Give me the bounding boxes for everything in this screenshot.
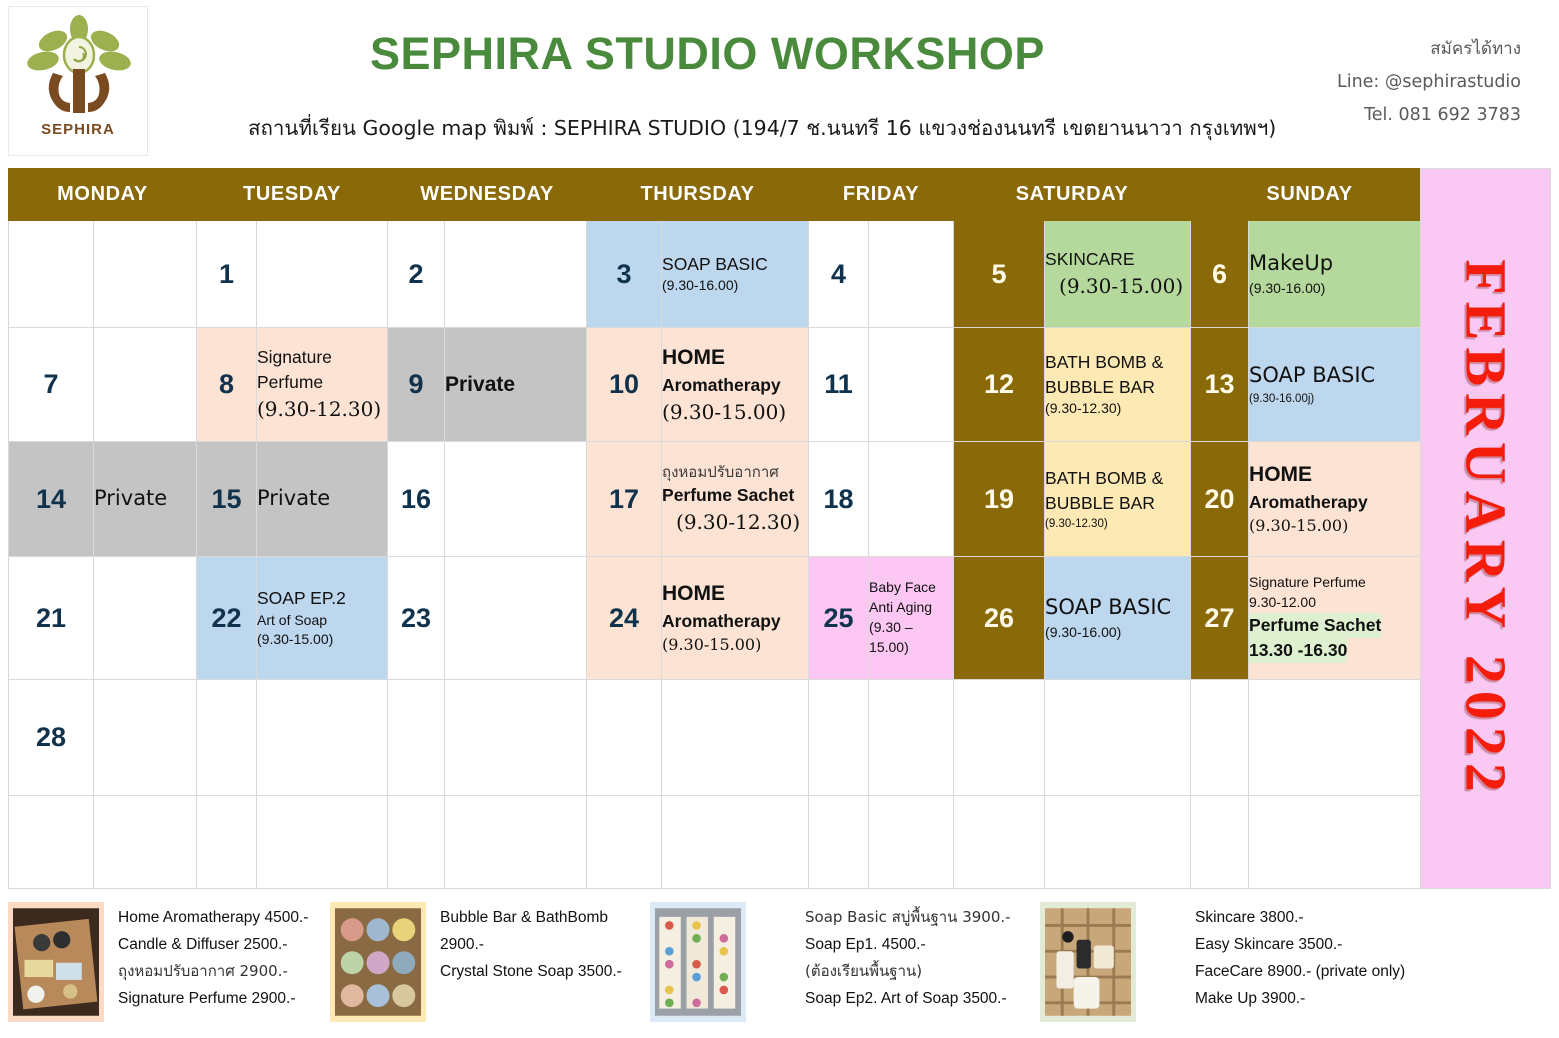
calendar-week-row	[9, 796, 1429, 889]
day-number-4[interactable]: 4	[809, 221, 869, 328]
day-number-empty	[388, 680, 445, 796]
price-line: Crystal Stone Soap 3500.-	[440, 958, 622, 985]
weekday-header-thursday: THURSDAY	[587, 169, 809, 221]
day-number-empty	[954, 796, 1045, 889]
event-text: (9.30 – 15.00)	[869, 618, 953, 658]
day-number-empty	[1191, 796, 1249, 889]
day-number-empty	[197, 796, 257, 889]
event-text: (9.30-15.00)	[257, 630, 387, 650]
price-lines-soap: Soap Basic สบู่พื้นฐาน 3900.-Soap Ep1. 4…	[805, 904, 1011, 1012]
day-number-19[interactable]: 19	[954, 442, 1045, 557]
price-lines-aromatherapy: Home Aromatherapy 4500.-Candle & Diffuse…	[118, 904, 308, 1012]
weekday-header-wednesday: WEDNESDAY	[388, 169, 587, 221]
event-text: BUBBLE BAR	[1045, 375, 1190, 400]
day-events-empty	[1045, 796, 1191, 889]
location-subtitle: สถานที่เรียน Google map พิมพ์ : SEPHIRA …	[248, 112, 1308, 145]
weekday-header-monday: MONDAY	[9, 169, 197, 221]
day-events-28	[94, 680, 197, 796]
event-text: SOAP BASIC	[662, 252, 808, 277]
price-line: Signature Perfume 2900.-	[118, 985, 308, 1012]
soap-thumbnail-icon	[655, 907, 741, 1017]
day-events-11	[869, 328, 954, 442]
skincare-thumbnail-icon	[1045, 907, 1131, 1017]
day-number-12[interactable]: 12	[954, 328, 1045, 442]
day-number-empty	[388, 796, 445, 889]
weekday-header-tuesday: TUESDAY	[197, 169, 388, 221]
aromatherapy-thumbnail-icon	[13, 907, 99, 1017]
day-number-empty	[197, 680, 257, 796]
day-events-20[interactable]: HOMEAromatherapy(9.30-15.00)	[1249, 442, 1429, 557]
day-events-empty	[1249, 680, 1429, 796]
calendar-week-row: 14Private15Private1617ถุงหอมปรับอากาศPer…	[9, 442, 1429, 557]
event-text: (9.30-16.00)	[662, 276, 808, 296]
calendar-week-row: 123SOAP BASIC(9.30-16.00)45SKINCARE(9.30…	[9, 221, 1429, 328]
price-line: FaceCare 8900.- (private only)	[1195, 958, 1405, 985]
day-number-10[interactable]: 10	[587, 328, 662, 442]
event-text: Private	[94, 484, 196, 514]
price-thumb-aromatherapy	[8, 902, 104, 1022]
event-text: ถุงหอมปรับอากาศ	[662, 462, 808, 483]
day-number-20[interactable]: 20	[1191, 442, 1249, 557]
price-line: Candle & Diffuser 2500.-	[118, 931, 308, 958]
price-line: Home Aromatherapy 4500.-	[118, 904, 308, 931]
price-line: 2900.-	[440, 931, 622, 958]
day-number-15[interactable]: 15	[197, 442, 257, 557]
day-number-empty	[587, 680, 662, 796]
event-text: MakeUp	[1249, 249, 1428, 279]
day-events-4	[869, 221, 954, 328]
day-number-8[interactable]: 8	[197, 328, 257, 442]
day-events-6[interactable]: MakeUp(9.30-16.00)	[1249, 221, 1429, 328]
day-events-empty	[94, 221, 197, 328]
day-number-16[interactable]: 16	[388, 442, 445, 557]
calendar-week-row: 78SignaturePerfume(9.30-12.30)9Private10…	[9, 328, 1429, 442]
calendar-poster: SEPHIRA SEPHIRA STUDIO WORKSHOP สถานที่เ…	[0, 0, 1559, 1038]
event-text: Aromatherapy	[1249, 490, 1428, 515]
event-text: (9.30-16.00)	[1249, 279, 1428, 299]
event-text: BATH BOMB &	[1045, 466, 1190, 491]
day-number-24[interactable]: 24	[587, 557, 662, 680]
weekday-header-friday: FRIDAY	[809, 169, 954, 221]
day-events-5[interactable]: SKINCARE(9.30-15.00)	[1045, 221, 1191, 328]
event-text: (9.30-12.30)	[257, 395, 387, 423]
event-text: SOAP BASIC	[1249, 361, 1428, 391]
day-events-empty	[662, 796, 809, 889]
price-line: Make Up 3900.-	[1195, 985, 1405, 1012]
day-events-empty	[869, 680, 954, 796]
day-events-1	[257, 221, 388, 328]
day-events-empty	[94, 796, 197, 889]
event-text: HOME	[662, 343, 808, 373]
price-line: (ต้องเรียนพื้นฐาน)	[805, 958, 1011, 985]
price-lines-bathbomb: Bubble Bar & BathBomb2900.-Crystal Stone…	[440, 904, 622, 985]
day-events-18	[869, 442, 954, 557]
event-text: Private	[257, 484, 387, 514]
event-text: SOAP EP.2	[257, 586, 387, 611]
sephira-logo: SEPHIRA	[8, 6, 148, 156]
contact-line-id: Line: @sephirastudio	[1337, 66, 1521, 99]
event-text: (9.30-16.00)	[1045, 623, 1190, 643]
day-number-23[interactable]: 23	[388, 557, 445, 680]
day-events-26[interactable]: SOAP BASIC(9.30-16.00)	[1045, 557, 1191, 680]
price-list-footer: Home Aromatherapy 4500.-Candle & Diffuse…	[0, 898, 1559, 1038]
day-events-empty	[257, 680, 388, 796]
day-events-23	[445, 557, 587, 680]
price-line: Easy Skincare 3500.-	[1195, 931, 1405, 958]
day-number-empty	[809, 796, 869, 889]
day-number-empty	[809, 680, 869, 796]
day-number-6[interactable]: 6	[1191, 221, 1249, 328]
page-title: SEPHIRA STUDIO WORKSHOP	[370, 28, 1270, 80]
price-thumb-soap	[650, 902, 746, 1022]
day-number-11[interactable]: 11	[809, 328, 869, 442]
price-line: ถุงหอมปรับอากาศ 2900.-	[118, 958, 308, 985]
day-number-1[interactable]: 1	[197, 221, 257, 328]
event-text: Art of Soap	[257, 611, 387, 631]
event-text: Signature	[257, 345, 387, 370]
tree-hands-logo-icon	[9, 7, 149, 127]
day-number-7[interactable]: 7	[9, 328, 94, 442]
event-text: HOME	[662, 579, 808, 609]
event-text: (9.30-16.00j)	[1249, 391, 1428, 407]
day-events-15[interactable]: Private	[257, 442, 388, 557]
calendar-week-row: 2122SOAP EP.2Art of Soap(9.30-15.00)2324…	[9, 557, 1429, 680]
event-text: Perfume Sachet	[1249, 613, 1381, 638]
monthly-calendar: MONDAY TUESDAY WEDNESDAY THURSDAY FRIDAY…	[8, 168, 1429, 889]
day-events-19[interactable]: BATH BOMB &BUBBLE BAR(9.30-12.30)	[1045, 442, 1191, 557]
event-text: (9.30-15.00)	[1045, 272, 1190, 300]
price-group-soap: Soap Basic สบู่พื้นฐาน 3900.-Soap Ep1. 4…	[650, 898, 1025, 1030]
day-events-27[interactable]: Signature Perfume9.30-12.00Perfume Sache…	[1249, 557, 1429, 680]
event-text: (9.30-12.30)	[1045, 516, 1190, 532]
price-thumb-skincare	[1040, 902, 1136, 1022]
weekday-header-saturday: SATURDAY	[954, 169, 1191, 221]
calendar-week-row: 28	[9, 680, 1429, 796]
event-text: Aromatherapy	[662, 609, 808, 634]
day-events-10[interactable]: HOMEAromatherapy(9.30-15.00)	[662, 328, 809, 442]
event-text: 13.30 -16.30	[1249, 638, 1347, 663]
day-number-17[interactable]: 17	[587, 442, 662, 557]
event-text: Anti Aging	[869, 598, 953, 618]
day-events-17[interactable]: ถุงหอมปรับอากาศPerfume Sachet(9.30-12.30…	[662, 442, 809, 557]
day-events-2	[445, 221, 587, 328]
price-line: Soap Ep1. 4500.-	[805, 931, 1011, 958]
day-events-empty	[1045, 680, 1191, 796]
event-text: SOAP BASIC	[1045, 593, 1190, 623]
month-sidebar: FEBRUARY 2022	[1420, 168, 1551, 889]
day-events-14[interactable]: Private	[94, 442, 197, 557]
day-number-26[interactable]: 26	[954, 557, 1045, 680]
day-number-18[interactable]: 18	[809, 442, 869, 557]
price-group-aromatherapy: Home Aromatherapy 4500.-Candle & Diffuse…	[8, 898, 328, 1030]
event-text: 9.30-12.00	[1249, 593, 1428, 613]
day-events-22[interactable]: SOAP EP.2Art of Soap(9.30-15.00)	[257, 557, 388, 680]
day-events-8[interactable]: SignaturePerfume(9.30-12.30)	[257, 328, 388, 442]
day-events-empty	[445, 680, 587, 796]
poster-header: SEPHIRA SEPHIRA STUDIO WORKSHOP สถานที่เ…	[0, 0, 1559, 160]
day-events-3[interactable]: SOAP BASIC(9.30-16.00)	[662, 221, 809, 328]
price-line: Skincare 3800.-	[1195, 904, 1405, 931]
price-line: Soap Basic สบู่พื้นฐาน 3900.-	[805, 904, 1011, 931]
event-text: BATH BOMB &	[1045, 350, 1190, 375]
day-number-empty	[9, 796, 94, 889]
day-number-28[interactable]: 28	[9, 680, 94, 796]
day-events-9[interactable]: Private	[445, 328, 587, 442]
event-text: (9.30-12.30)	[662, 508, 808, 536]
event-text: Perfume	[257, 370, 387, 395]
day-number-3[interactable]: 3	[587, 221, 662, 328]
price-line: Soap Ep2. Art of Soap 3500.-	[805, 985, 1011, 1012]
event-text: Signature Perfume	[1249, 573, 1428, 593]
weekday-header-sunday: SUNDAY	[1191, 169, 1429, 221]
day-events-7	[94, 328, 197, 442]
day-number-21[interactable]: 21	[9, 557, 94, 680]
price-group-bathbomb: Bubble Bar & BathBomb2900.-Crystal Stone…	[330, 898, 640, 1030]
day-events-12[interactable]: BATH BOMB &BUBBLE BAR(9.30-12.30)	[1045, 328, 1191, 442]
day-events-25[interactable]: Baby FaceAnti Aging(9.30 – 15.00)	[869, 557, 954, 680]
contact-telephone: Tel. 081 692 3783	[1337, 99, 1521, 132]
day-events-empty	[1249, 796, 1429, 889]
event-text: SKINCARE	[1045, 247, 1190, 272]
day-events-21	[94, 557, 197, 680]
weekday-header-row: MONDAY TUESDAY WEDNESDAY THURSDAY FRIDAY…	[9, 169, 1429, 221]
event-text: (9.30-15.00)	[1249, 515, 1428, 538]
day-events-13[interactable]: SOAP BASIC(9.30-16.00j)	[1249, 328, 1429, 442]
contact-label: สมัครได้ทาง	[1337, 33, 1521, 66]
price-thumb-bathbomb	[330, 902, 426, 1022]
day-events-24[interactable]: HOMEAromatherapy(9.30-15.00)	[662, 557, 809, 680]
event-text: Baby Face	[869, 578, 953, 598]
month-label: FEBRUARY 2022	[1452, 259, 1519, 799]
event-text: BUBBLE BAR	[1045, 491, 1190, 516]
day-number-2[interactable]: 2	[388, 221, 445, 328]
day-number-empty	[1191, 680, 1249, 796]
calendar-body: 123SOAP BASIC(9.30-16.00)45SKINCARE(9.30…	[9, 221, 1429, 889]
day-number-22[interactable]: 22	[197, 557, 257, 680]
day-events-empty	[257, 796, 388, 889]
event-text: (9.30-12.30)	[1045, 399, 1190, 419]
price-group-skincare: Skincare 3800.-Easy Skincare 3500.-FaceC…	[1040, 898, 1400, 1030]
day-events-empty	[869, 796, 954, 889]
event-text: Perfume Sachet	[662, 483, 808, 508]
event-text: HOME	[1249, 460, 1428, 490]
day-events-empty	[662, 680, 809, 796]
price-lines-skincare: Skincare 3800.-Easy Skincare 3500.-FaceC…	[1195, 904, 1405, 1012]
day-events-empty	[445, 796, 587, 889]
day-number-5[interactable]: 5	[954, 221, 1045, 328]
event-text: (9.30-15.00)	[662, 634, 808, 657]
day-events-16	[445, 442, 587, 557]
event-text: Private	[445, 370, 586, 400]
day-number-25[interactable]: 25	[809, 557, 869, 680]
day-number-empty	[9, 221, 94, 328]
event-text: Aromatherapy	[662, 373, 808, 398]
logo-wordmark: SEPHIRA	[9, 121, 147, 138]
day-number-9[interactable]: 9	[388, 328, 445, 442]
day-number-14[interactable]: 14	[9, 442, 94, 557]
price-line: Bubble Bar & BathBomb	[440, 904, 622, 931]
day-number-empty	[954, 680, 1045, 796]
day-number-27[interactable]: 27	[1191, 557, 1249, 680]
contact-block: สมัครได้ทาง Line: @sephirastudio Tel. 08…	[1337, 33, 1521, 132]
event-text: (9.30-15.00)	[662, 398, 808, 426]
day-number-13[interactable]: 13	[1191, 328, 1249, 442]
bathbomb-thumbnail-icon	[335, 907, 421, 1017]
day-number-empty	[587, 796, 662, 889]
